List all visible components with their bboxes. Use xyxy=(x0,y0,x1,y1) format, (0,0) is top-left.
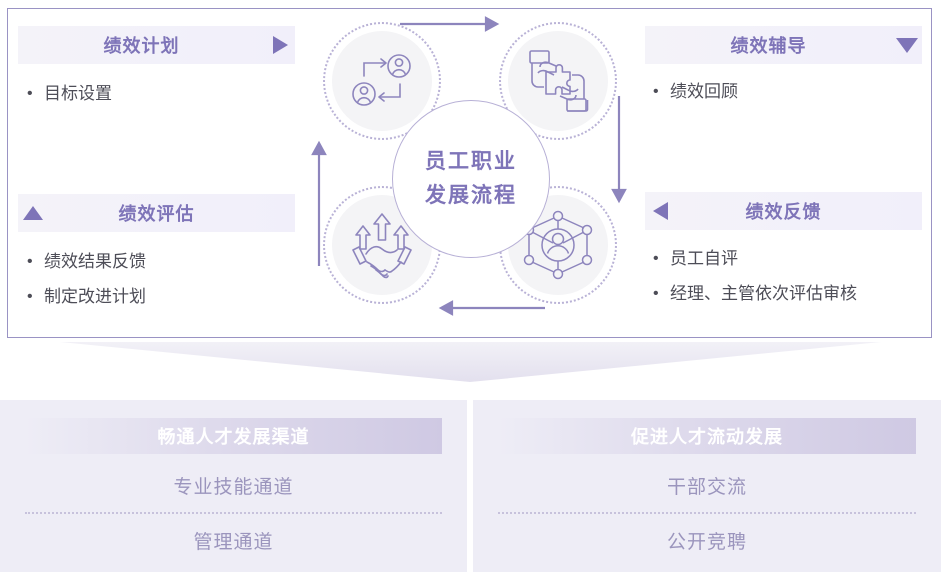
bullet-dot: • xyxy=(22,285,44,309)
panel-header-mobility: 促进人才流动发展 xyxy=(498,418,916,454)
quadrant-header-plan[interactable]: 绩效计划 xyxy=(18,26,295,64)
flow-arrow-layer xyxy=(300,8,640,333)
panel-title-channel: 畅通人才发展渠道 xyxy=(158,423,310,449)
quadrant-header-eval[interactable]: 绩效评估 xyxy=(18,194,295,232)
panel-header-channel: 畅通人才发展渠道 xyxy=(25,418,442,454)
list-item: • 目标设置 xyxy=(22,82,302,106)
bullet-dot: • xyxy=(22,250,44,274)
bullet-dot: • xyxy=(648,80,670,104)
list-item-label: 制定改进计划 xyxy=(44,285,146,309)
quadrant-header-feedback[interactable]: 绩效反馈 xyxy=(645,192,922,230)
list-item: • 绩效回顾 xyxy=(648,80,938,104)
arrow-left-up xyxy=(313,143,325,266)
triangle-up-icon xyxy=(18,205,48,221)
arrow-top-right xyxy=(400,18,497,30)
quadrant-header-coach[interactable]: 绩效辅导 xyxy=(645,26,922,64)
panel-row-mobility-1[interactable]: 干部交流 xyxy=(473,472,941,499)
panel-divider xyxy=(25,512,442,514)
bullet-dot: • xyxy=(22,82,44,106)
list-item: • 绩效结果反馈 xyxy=(22,250,302,274)
bottom-panel-mobility: 促进人才流动发展 干部交流 公开竞聘 xyxy=(473,400,941,572)
quadrant-title-eval: 绩效评估 xyxy=(48,200,265,226)
list-item-label: 绩效结果反馈 xyxy=(44,250,146,274)
chevron-connector xyxy=(0,340,941,396)
panel-title-mobility: 促进人才流动发展 xyxy=(631,423,783,449)
list-item-label: 经理、主管依次评估审核 xyxy=(670,282,857,306)
infographic-canvas: 绩效计划 • 目标设置 绩效评估 • 绩效结果反馈 • 制定改进计划 绩效辅导 xyxy=(0,0,941,572)
quadrant-title-plan: 绩效计划 xyxy=(18,32,265,58)
center-cycle-diagram: 员工职业 发展流程 xyxy=(300,8,640,333)
panel-row-mobility-2[interactable]: 公开竞聘 xyxy=(473,527,941,554)
panel-divider xyxy=(498,512,916,514)
list-item-label: 员工自评 xyxy=(670,247,738,271)
list-item-label: 绩效回顾 xyxy=(670,80,738,104)
panel-row-channel-2[interactable]: 管理通道 xyxy=(0,527,467,554)
bullet-list-plan: • 目标设置 xyxy=(22,82,302,117)
bullet-dot: • xyxy=(648,282,670,306)
list-item: • 制定改进计划 xyxy=(22,285,302,309)
bottom-panel-channel: 畅通人才发展渠道 专业技能通道 管理通道 xyxy=(0,400,467,572)
bullet-dot: • xyxy=(648,247,670,271)
triangle-right-icon xyxy=(265,35,295,55)
bullet-list-eval: • 绩效结果反馈 • 制定改进计划 xyxy=(22,250,302,320)
quadrant-title-coach: 绩效辅导 xyxy=(645,32,892,58)
triangle-left-icon xyxy=(645,201,675,221)
bullet-list-feedback: • 员工自评 • 经理、主管依次评估审核 xyxy=(648,247,941,317)
bullet-list-coach: • 绩效回顾 xyxy=(648,80,938,115)
triangle-down-icon xyxy=(892,37,922,54)
list-item: • 员工自评 xyxy=(648,247,941,271)
arrow-bottom-left xyxy=(441,302,545,314)
arrow-right-down xyxy=(613,96,625,201)
quadrant-title-feedback: 绩效反馈 xyxy=(675,198,892,224)
list-item: • 经理、主管依次评估审核 xyxy=(648,282,941,306)
panel-row-channel-1[interactable]: 专业技能通道 xyxy=(0,472,467,499)
list-item-label: 目标设置 xyxy=(44,82,112,106)
